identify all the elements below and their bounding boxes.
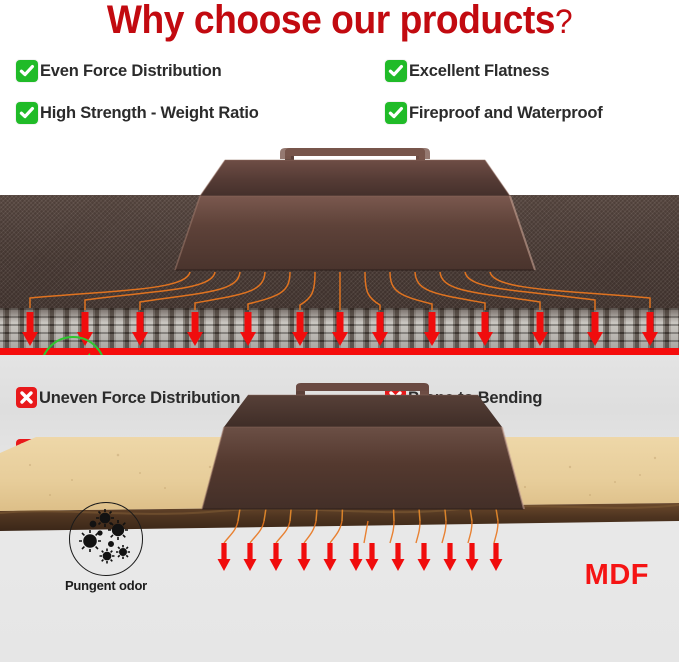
x-icon <box>385 439 406 460</box>
odor-badge-label: Pungent odor <box>48 578 164 593</box>
con-item-label: Deformed by moisture <box>408 440 579 460</box>
germ-icon <box>69 502 143 576</box>
con-item-uneven-force-distribution: Uneven Force Distribution <box>16 387 247 408</box>
eco-badge: Safe and odorless <box>14 336 132 355</box>
header-section: Why choose our products? Even Force Dist… <box>0 0 679 140</box>
product-comparison-infographic: Why choose our products? Even Force Dist… <box>0 0 679 662</box>
pro-item-label: High Strength - Weight Ratio <box>40 103 259 123</box>
odor-badge: Pungent odor <box>48 502 164 594</box>
tool-handle-right <box>416 156 425 196</box>
check-icon <box>385 102 407 124</box>
check-icon <box>16 102 38 124</box>
con-item-prone-to-bending: Prone to Bending <box>385 387 546 408</box>
x-icon <box>385 387 406 408</box>
pros-list: Even Force Distribution High Strength - … <box>0 50 679 140</box>
mdf-force-lines-under <box>224 521 498 543</box>
cons-list: Uneven Force Distribution Heavier for th… <box>0 377 679 487</box>
x-icon <box>16 439 37 460</box>
ours-panel: Safe and odorless Ours <box>0 140 679 355</box>
con-item-label: Prone to Bending <box>408 388 542 408</box>
mdf-brand-label: MDF <box>585 559 649 592</box>
pro-item-excellent-flatness: Excellent Flatness <box>385 60 554 82</box>
con-item-deformed-by-moisture: Deformed by moisture <box>385 439 584 460</box>
pro-item-even-force-distribution: Even Force Distribution <box>16 60 227 82</box>
tool-handle-top <box>285 148 425 158</box>
mdf-panel: Uneven Force Distribution Heavier for th… <box>0 355 679 662</box>
pro-item-high-strength-weight-ratio: High Strength - Weight Ratio <box>16 102 265 124</box>
leaf-icon <box>40 336 106 355</box>
pro-item-fireproof-and-waterproof: Fireproof and Waterproof <box>385 102 609 124</box>
check-icon <box>16 60 38 82</box>
pro-item-label: Excellent Flatness <box>409 61 549 81</box>
con-item-label: Heavier for the Same Strength <box>39 440 270 460</box>
check-icon <box>385 60 407 82</box>
pro-item-label: Fireproof and Waterproof <box>409 103 603 123</box>
page-title: Why choose our products? <box>24 0 655 43</box>
con-item-label: Uneven Force Distribution <box>39 388 240 408</box>
con-item-heavier-for-the-same-strength: Heavier for the Same Strength <box>16 439 277 460</box>
page-title-question-mark: ? <box>555 3 572 41</box>
mdf-force-arrows-down <box>218 543 503 571</box>
pro-item-label: Even Force Distribution <box>40 61 222 81</box>
tool-handle-left <box>285 156 294 196</box>
x-icon <box>16 387 37 408</box>
page-title-text: Why choose our products <box>107 0 555 42</box>
tool-upper-slab <box>200 160 510 196</box>
